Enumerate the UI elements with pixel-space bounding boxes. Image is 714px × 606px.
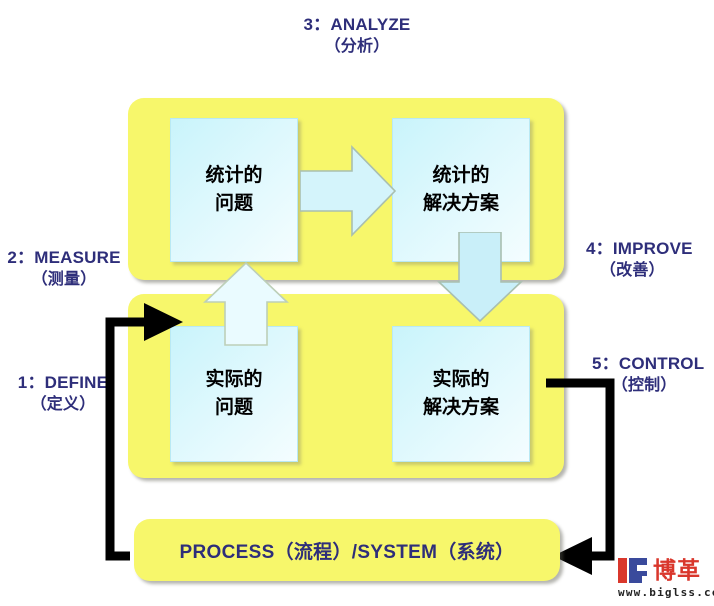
label-control-cn: （控制） xyxy=(592,375,696,396)
label-control-num: 5： xyxy=(592,354,619,373)
box-statistical-solution-line2: 解决方案 xyxy=(423,190,499,218)
label-analyze-en: ANALYZE xyxy=(330,15,410,34)
arrow-up-icon xyxy=(203,262,289,346)
box-practical-problem-line2: 问题 xyxy=(205,394,262,422)
label-analyze-cn: （分析） xyxy=(0,36,714,57)
label-measure-en: MEASURE xyxy=(34,248,120,267)
label-measure-num: 2： xyxy=(7,248,34,267)
process-system-label: PROCESS（流程）/SYSTEM（系统） xyxy=(180,537,515,564)
label-improve: 4：IMPROVE （改善） xyxy=(586,238,693,282)
box-statistical-solution-line1: 统计的 xyxy=(423,162,499,190)
box-statistical-problem: 统计的 问题 xyxy=(170,118,298,262)
box-practical-problem: 实际的 问题 xyxy=(170,326,298,462)
label-analyze: 3：ANALYZE （分析） xyxy=(0,14,714,58)
diagram-canvas: 3：ANALYZE （分析） 2：MEASURE （测量） 1：DEFINE （… xyxy=(0,0,714,606)
arrow-down-icon xyxy=(437,232,523,322)
box-practical-solution: 实际的 解决方案 xyxy=(392,326,530,462)
box-statistical-problem-line1: 统计的 xyxy=(205,162,262,190)
arrow-right-icon xyxy=(300,145,396,237)
label-define: 1：DEFINE （定义） xyxy=(2,372,124,416)
process-system-bar: PROCESS（流程）/SYSTEM（系统） xyxy=(134,519,560,581)
brand-logo: 博革 www.biglss.com xyxy=(618,556,710,602)
logo-mark-i-icon xyxy=(618,558,627,583)
logo-brand-name: 博革 xyxy=(653,558,701,583)
box-practical-problem-line1: 实际的 xyxy=(205,366,262,394)
label-improve-num: 4： xyxy=(586,239,613,258)
box-practical-solution-line1: 实际的 xyxy=(423,366,499,394)
label-define-cn: （定义） xyxy=(2,394,124,415)
logo-mark: 博革 xyxy=(618,556,710,583)
logo-mark-g-icon xyxy=(629,558,647,583)
logo-url: www.biglss.com xyxy=(618,586,710,599)
label-control: 5：CONTROL （控制） xyxy=(592,353,704,397)
box-practical-solution-line2: 解决方案 xyxy=(423,394,499,422)
box-statistical-problem-line2: 问题 xyxy=(205,190,262,218)
label-control-en: CONTROL xyxy=(619,354,704,373)
label-improve-en: IMPROVE xyxy=(613,239,693,258)
label-measure: 2：MEASURE （测量） xyxy=(0,247,132,291)
label-define-en: DEFINE xyxy=(45,373,109,392)
label-measure-cn: （测量） xyxy=(0,269,132,290)
label-define-num: 1： xyxy=(18,373,45,392)
label-improve-cn: （改善） xyxy=(586,260,679,281)
label-analyze-num: 3： xyxy=(304,15,331,34)
